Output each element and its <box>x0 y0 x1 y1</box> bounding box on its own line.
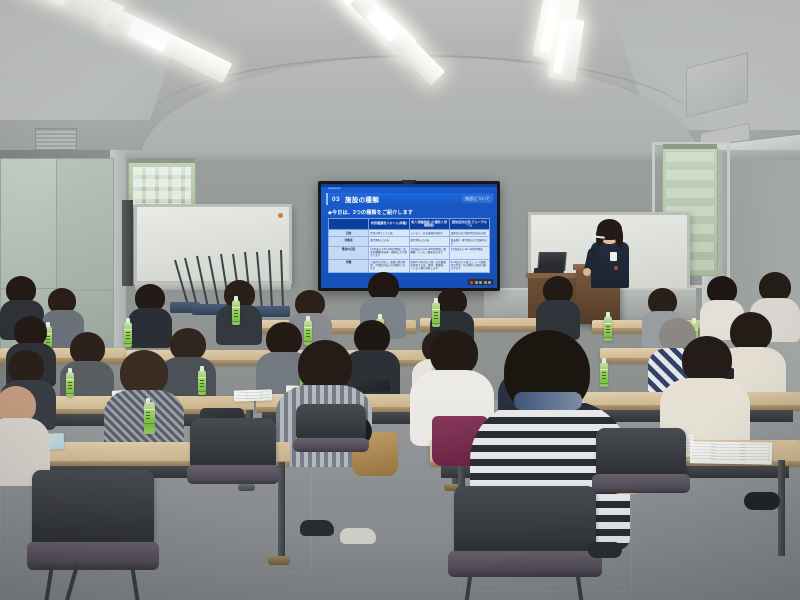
chair-seat <box>187 465 280 484</box>
shoe <box>744 492 780 510</box>
table-row: 目的 生活の場として入居 リハビリ・在宅復帰を目指す 認知症の方が共同生活を送る… <box>329 230 490 237</box>
chair-seat <box>448 551 601 577</box>
row-label: 費用の目安 <box>329 247 369 260</box>
desk-foot <box>268 556 290 565</box>
presenter-name-badge <box>610 252 617 261</box>
attendee <box>536 276 580 338</box>
table-cell: 生活の場として入居 <box>369 230 409 237</box>
table-cell: 1カ月あたり8〜15万円程度。居室の種類(多床室・個室)により異なります <box>369 247 409 260</box>
whiteboard-stand <box>122 200 133 286</box>
presenter-hair-side <box>615 227 623 247</box>
neck-scarf <box>514 392 582 410</box>
chair[interactable] <box>596 428 686 512</box>
table-col-3: 認知症対応型 グループホーム <box>449 219 489 230</box>
chair-backrest <box>596 428 686 477</box>
table-cell: 1カ月あたり9〜20万円程度。医療費・リハビリ費を含みます <box>409 247 449 260</box>
handout-paper[interactable] <box>690 441 772 464</box>
slide-comparison-table: 特別養護老人ホーム(特養) 老人保健施設 (介護老人保健施設) 認知症対応型 グ… <box>328 218 490 273</box>
presenter <box>588 222 632 288</box>
presenter-logo-icon <box>614 266 618 270</box>
shoe <box>588 542 622 558</box>
table-cell: 原則3〜6カ月の入所。在宅復帰を目指すため、医師・看護師・リハビリ職が常駐します <box>409 259 449 272</box>
presenter-hand <box>583 268 591 276</box>
blind-headrail <box>663 144 717 149</box>
glass-partition-panel <box>0 158 58 290</box>
chair-backrest <box>190 418 276 468</box>
window-blind-left[interactable] <box>128 162 196 210</box>
desk-leg <box>778 460 785 556</box>
table-cell: 要介護3以上の方 <box>369 237 409 247</box>
slide-bullet-text: ◆今日は、3つの種類をご紹介します <box>328 209 413 216</box>
row-label: 対象者 <box>329 237 369 247</box>
chair-backrest <box>296 404 366 440</box>
attendee <box>0 386 50 482</box>
seminar-room-photo: Kawasaki 03 施設の種類 施設について ◆今日は、3つの種類をご紹介し… <box>0 0 800 600</box>
grid-icon[interactable] <box>484 281 487 284</box>
pen-icon[interactable] <box>479 281 482 284</box>
desk-leg <box>278 462 285 558</box>
table-col-blank <box>329 219 369 230</box>
row-label: 目的 <box>329 230 369 237</box>
chair-seat <box>293 438 369 452</box>
slide-topbar <box>321 184 497 187</box>
table-row: 費用の目安 1カ月あたり8〜15万円程度。居室の種類(多床室・個室)により異なり… <box>329 247 490 260</box>
tea-bottle[interactable] <box>232 300 240 325</box>
table-cell: 入居待ちが多い。長期入所が前提。介護度が高い方が優先されます <box>369 259 409 272</box>
magnet-icon <box>278 213 283 218</box>
ceiling-vent <box>35 128 77 150</box>
screen-control-toolbar[interactable] <box>468 279 493 285</box>
fullscreen-icon[interactable] <box>488 281 491 284</box>
slide-section-tag: 施設について <box>462 195 493 203</box>
slide-heading: 施設の種類 <box>345 194 379 204</box>
table-cell: 5〜9名の少人数ユニットで家庭的な生活。住み慣れた地域で暮らせます <box>449 259 489 272</box>
slide-canvas: Kawasaki 03 施設の種類 施設について ◆今日は、3つの種類をご紹介し… <box>321 184 497 288</box>
blind-weave <box>133 167 191 205</box>
blind-headrail <box>129 158 195 163</box>
table-header-row: 特別養護老人ホーム(特養) 老人保健施設 (介護老人保健施設) 認知症対応型 グ… <box>329 219 490 230</box>
table-row: 対象者 要介護3以上の方 要介護1以上の方 要支援2・要介護の方で認知症の方 <box>329 237 490 247</box>
tea-bottle[interactable] <box>66 372 74 397</box>
tea-bottle[interactable] <box>124 322 132 347</box>
chair[interactable] <box>32 470 154 600</box>
table-cell: 1カ月あたり12〜18万円程度 <box>449 247 489 260</box>
chair-backrest <box>32 470 154 545</box>
table-cell: 要介護1以上の方 <box>409 237 449 247</box>
chair[interactable] <box>454 486 596 600</box>
tea-bottle[interactable] <box>432 302 440 327</box>
slide-view-icon[interactable] <box>475 281 478 284</box>
glass-partition-panel <box>56 158 114 292</box>
handout-paper[interactable] <box>234 389 272 401</box>
chair-seat <box>27 542 159 571</box>
table-cell: 要支援2・要介護の方で認知症の方 <box>449 237 489 247</box>
laptop-keyboard[interactable] <box>534 268 565 273</box>
shoe <box>340 528 376 544</box>
chair[interactable] <box>296 404 366 466</box>
row-label: 特徴 <box>329 259 369 272</box>
chair[interactable] <box>190 418 276 504</box>
record-icon[interactable] <box>470 281 473 284</box>
slide-logo: Kawasaki <box>328 188 341 191</box>
tea-bottle[interactable] <box>198 370 206 395</box>
projection-display[interactable]: Kawasaki 03 施設の種類 施設について ◆今日は、3つの種類をご紹介し… <box>318 181 500 291</box>
table-col-2: 老人保健施設 (介護老人保健施設) <box>409 219 449 230</box>
table-col-1: 特別養護老人ホーム(特養) <box>369 219 409 230</box>
chair-backrest <box>454 486 596 554</box>
table-row: 特徴 入居待ちが多い。長期入所が前提。介護度が高い方が優先されます 原則3〜6カ… <box>329 259 490 272</box>
tea-bottle[interactable] <box>144 402 155 434</box>
shoe <box>300 520 334 536</box>
slide-number: 03 <box>332 196 340 203</box>
table-cell: リハビリ・在宅復帰を目指す <box>409 230 449 237</box>
chair-seat <box>592 474 689 492</box>
table-cell: 認知症の方が共同生活を送る場 <box>449 230 489 237</box>
